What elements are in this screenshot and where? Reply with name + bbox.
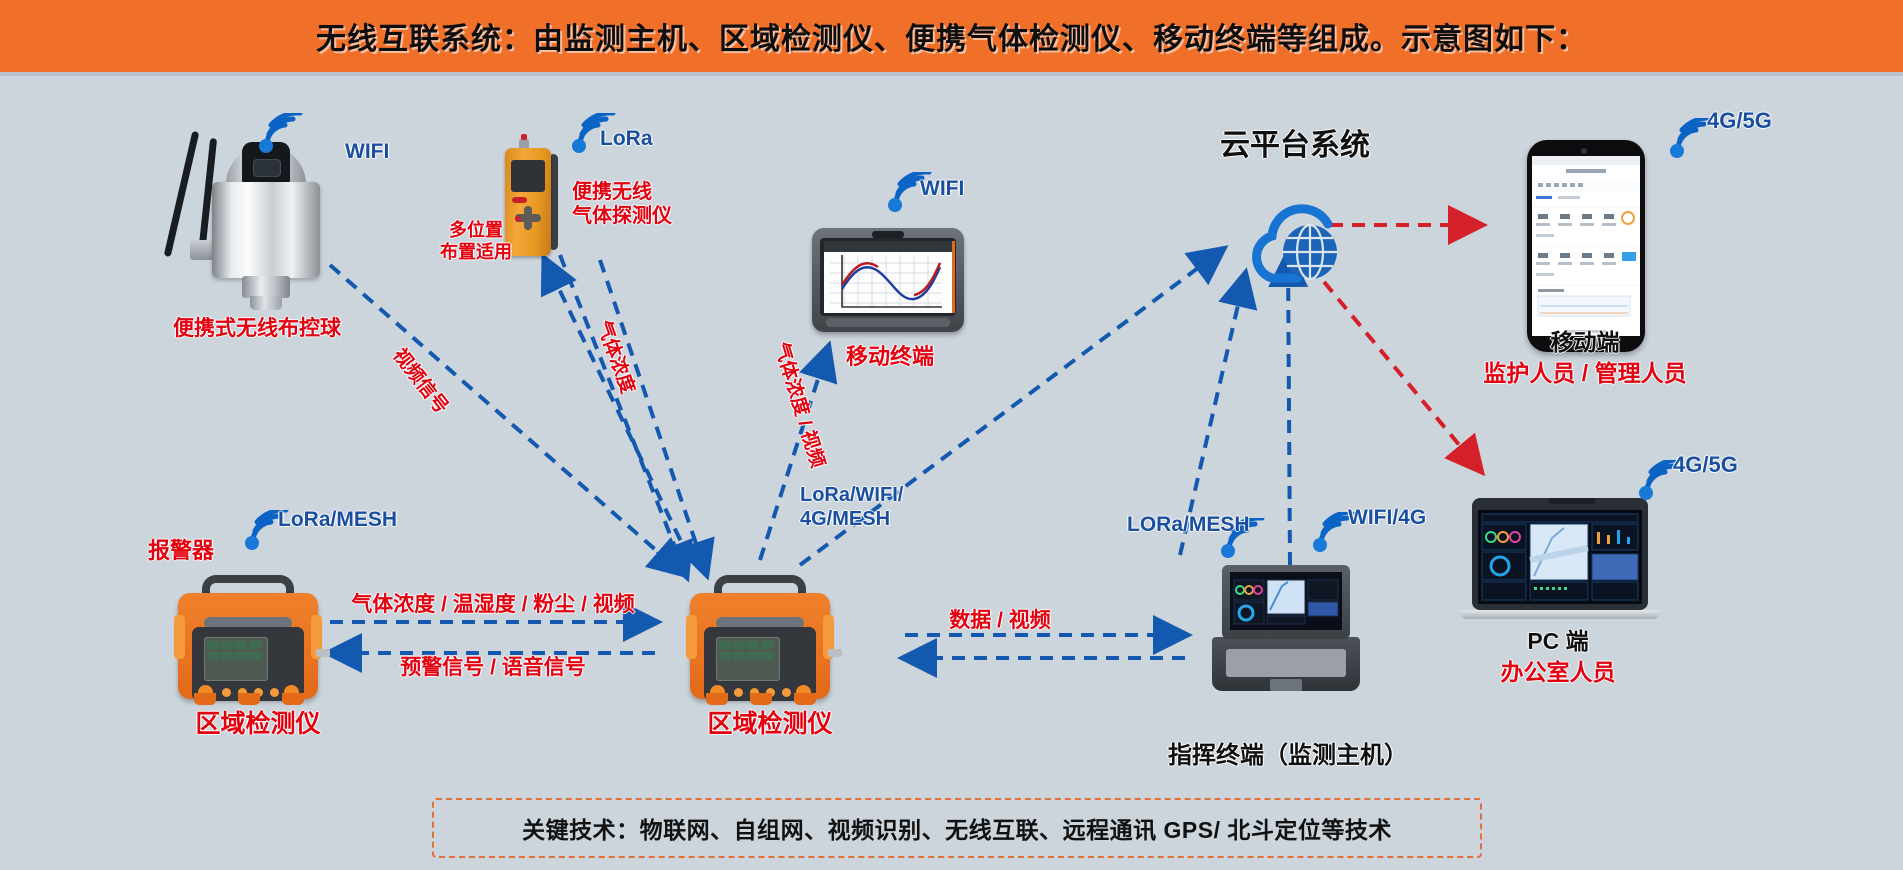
foot [706, 693, 728, 705]
link-label-video-signal: 视频信号 [387, 345, 452, 419]
note-alarm-unit: 报警器 [148, 538, 214, 564]
laptop-lid [1222, 565, 1350, 639]
foot [794, 693, 816, 705]
detector-screen [716, 637, 780, 681]
device-pc[interactable] [1460, 498, 1670, 623]
foot [194, 693, 216, 705]
label-alarm-unit: 区域检测仪 [195, 709, 320, 739]
tablet-port-strip [826, 318, 950, 327]
device-alarm-unit[interactable] [178, 575, 338, 710]
badge-command-terminal: WIFI/4G [1348, 505, 1426, 530]
badge-gas-probe: LoRa [600, 126, 653, 151]
device-command-terminal[interactable] [1212, 565, 1362, 693]
device-area-unit[interactable] [690, 575, 850, 710]
link-label-gas-density-video: 气体浓度 / 视频 [768, 340, 828, 471]
diagram-canvas: 无线互联系统：由监测主机、区域检测仪、便携气体检测仪、移动终端等组成。示意图如下… [0, 0, 1903, 870]
key-technology-box: 关键技术：物联网、自组网、视频识别、无线互联、远程通讯 GPS/ 北斗定位等技术 [432, 798, 1482, 858]
label-gas-probe: 便携无线 气体探测仪 [572, 180, 672, 228]
badge2-command-terminal: LORa/MESH [1127, 512, 1250, 537]
link-label-lora-wifi-4g-mesh: LoRa/WIFI/ 4G/MESH [800, 483, 903, 531]
device-tablet[interactable] [812, 228, 972, 340]
power-button [512, 197, 527, 203]
phone-screen [1532, 156, 1640, 336]
front-camera-icon [872, 231, 904, 238]
antenna-icon [164, 131, 200, 257]
pc-dashboard-screen [1478, 510, 1642, 604]
badge-ptz-ball: WIFI [345, 139, 389, 164]
antenna-port [316, 649, 330, 657]
note-gas-probe: 多位置 布置适用 [440, 220, 512, 263]
tablet-bezel [820, 238, 956, 316]
phone-camera-icon [1581, 148, 1587, 154]
label-tablet: 移动终端 [846, 344, 934, 370]
page-header: 无线互联系统：由监测主机、区域检测仪、便携气体检测仪、移动终端等组成。示意图如下… [0, 0, 1903, 72]
tablet-screen [824, 241, 955, 313]
pc-notch [1548, 498, 1596, 504]
header-divider [0, 72, 1903, 76]
badge-pc: 4G/5G [1673, 452, 1738, 478]
badge-tablet: WIFI [920, 176, 964, 201]
key-technology-text: 关键技术：物联网、自组网、视频识别、无线互联、远程通讯 GPS/ 北斗定位等技术 [522, 811, 1392, 845]
cloud-platform-title: 云平台系统 [1220, 128, 1370, 164]
sublabel-phone: 监护人员 / 管理人员 [1483, 360, 1686, 388]
link-label-to-alarm-bottom: 预警信号 / 语音信号 [400, 655, 586, 680]
device-phone[interactable] [1527, 140, 1647, 355]
laptop-touchpad[interactable] [1270, 679, 1302, 691]
antenna-port [828, 649, 842, 657]
cloud-globe-icon [1232, 182, 1354, 291]
page-title: 无线互联系统：由监测主机、区域检测仪、便携气体检测仪、移动终端等组成。示意图如下… [0, 0, 1903, 72]
label-area-unit: 区域检测仪 [707, 709, 832, 739]
tablet-shell [812, 228, 964, 332]
link-label-gas-density: 气体浓度 [591, 318, 638, 397]
side-bumper [686, 615, 697, 659]
device-gas-probe[interactable] [505, 148, 565, 268]
ball-housing [212, 182, 320, 278]
label-pc: PC 端 [1527, 628, 1588, 656]
center-key [515, 216, 521, 222]
link-label-to-area-top: 气体浓度 / 温湿度 / 粉尘 / 视频 [351, 592, 635, 617]
detector-shell [690, 593, 830, 699]
pc-base [1460, 610, 1660, 619]
ball-foot [250, 296, 282, 310]
label-phone: 移动端 [1551, 329, 1620, 357]
foot [750, 693, 772, 705]
detector-screen [204, 637, 268, 681]
phone-shell [1527, 140, 1645, 352]
foot [238, 693, 260, 705]
sublabel-pc: 办公室人员 [1501, 659, 1616, 687]
detector-shell [178, 593, 318, 699]
foot [282, 693, 304, 705]
badge-alarm-unit: LoRa/MESH [278, 507, 397, 532]
wifi-icon [257, 113, 303, 153]
ball-neck [242, 276, 290, 298]
badge-phone: 4G/5G [1707, 108, 1772, 134]
device-screen [511, 160, 545, 192]
side-bumper [174, 615, 185, 659]
link-label-data-video: 数据 / 视频 [949, 608, 1051, 633]
label-ptz-ball: 便携式无线布控球 [173, 316, 341, 341]
label-command-terminal: 指挥终端（监测主机） [1168, 742, 1408, 771]
pc-lid [1472, 498, 1648, 610]
laptop-keyboard[interactable] [1226, 649, 1346, 677]
command-dashboard-screen [1230, 572, 1342, 630]
status-bar [824, 241, 952, 252]
